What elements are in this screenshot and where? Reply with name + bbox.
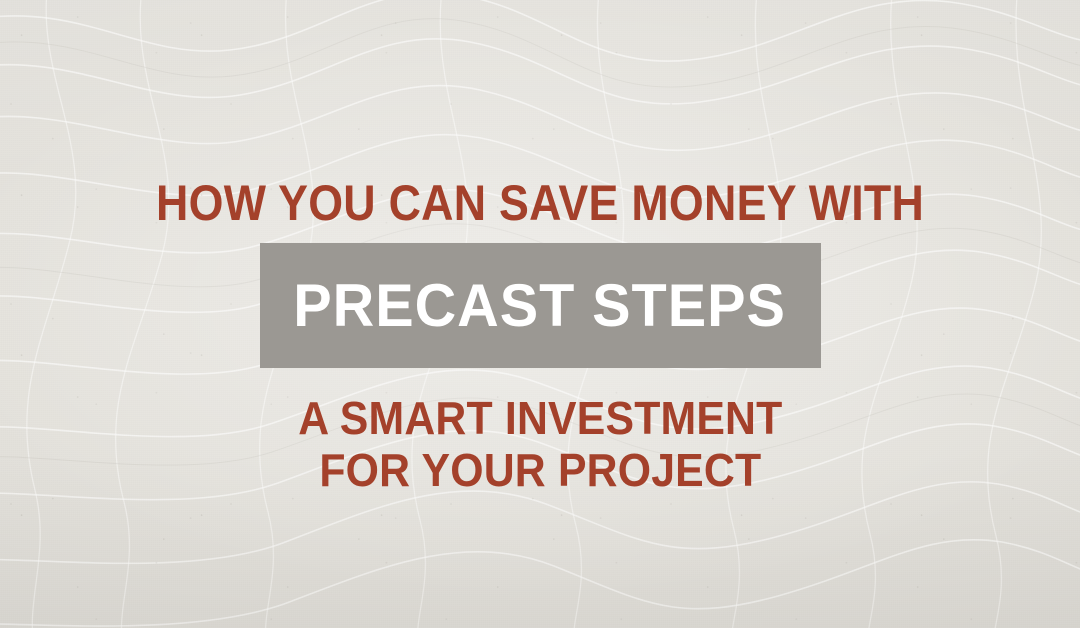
headline-bottom-line-1: A SMART INVESTMENT [298, 392, 782, 444]
title-card-banner: HOW YOU CAN SAVE MONEY WITH PRECAST STEP… [0, 0, 1080, 628]
headline-bottom-line-2: FOR YOUR PROJECT [298, 444, 782, 496]
headline-content: HOW YOU CAN SAVE MONEY WITH PRECAST STEP… [0, 0, 1080, 628]
headline-top-line: HOW YOU CAN SAVE MONEY WITH [156, 178, 924, 228]
headline-bottom-block: A SMART INVESTMENT FOR YOUR PROJECT [280, 392, 801, 496]
highlight-box: PRECAST STEPS [260, 243, 821, 368]
highlight-headline-text: PRECAST STEPS [294, 276, 787, 336]
